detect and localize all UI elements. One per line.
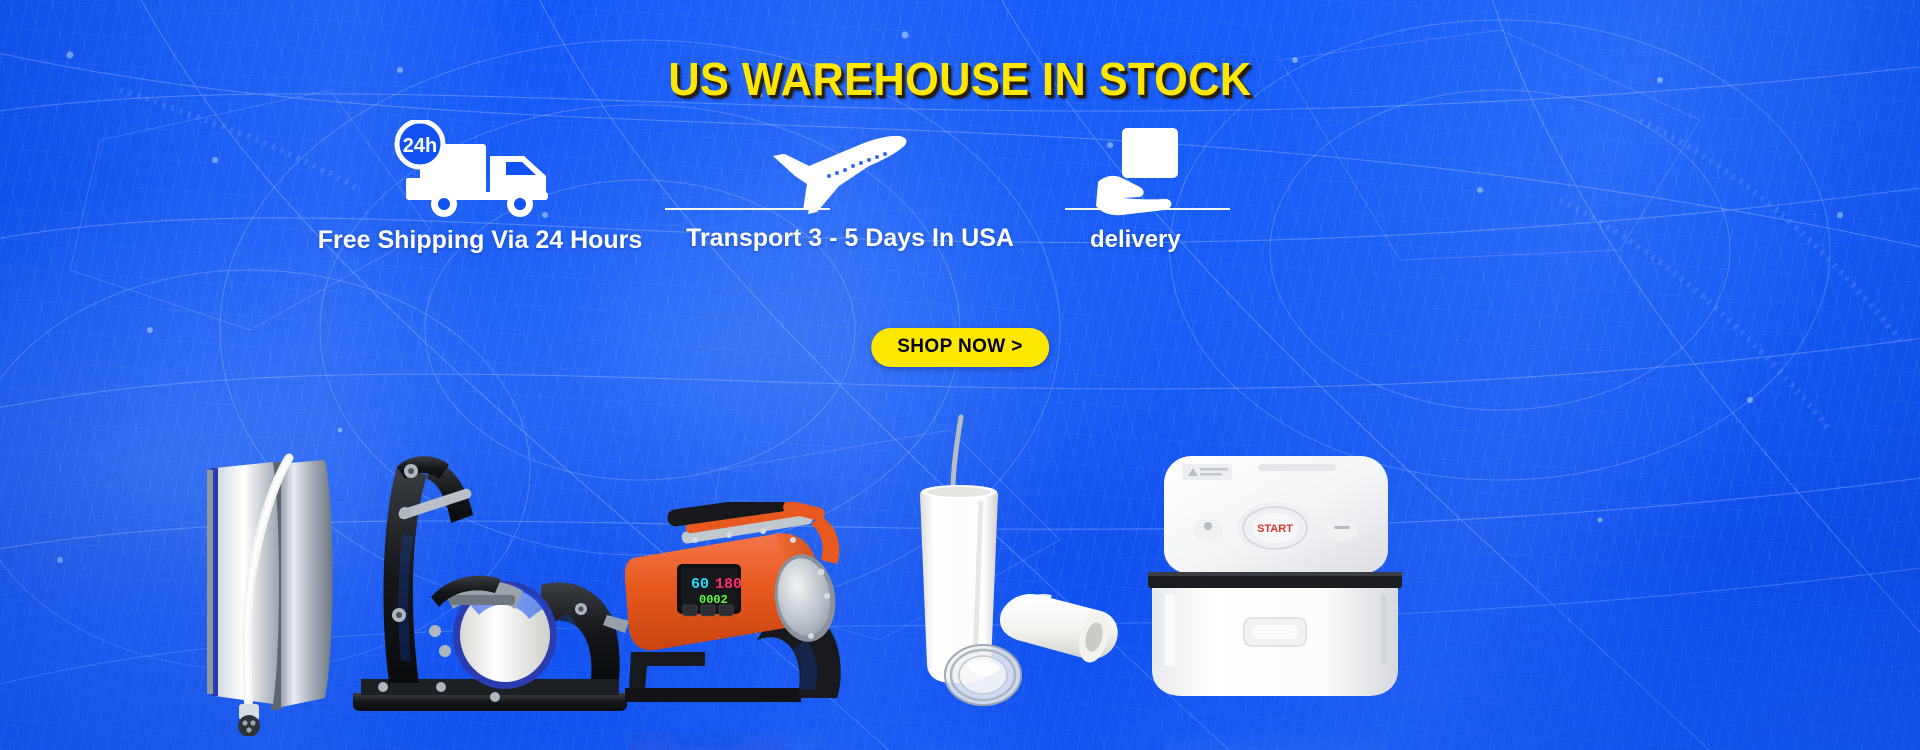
product-3d-oven: START	[1130, 440, 1420, 710]
feature-shipping: 24h Free Shipping Via 24 Hours	[300, 120, 660, 255]
delivery-truck-24h-icon: 24h	[300, 120, 660, 220]
product-heating-element	[185, 446, 345, 736]
press-display-time: 60	[691, 576, 709, 593]
truck-badge-label: 24h	[403, 135, 437, 157]
press-display-temperature: 180	[715, 718, 742, 735]
promo-banner: US WAREHOUSE IN STOCK	[0, 0, 1920, 750]
product-tumbler-press: 60 180 0002	[625, 502, 925, 712]
feature-shipping-caption: Free Shipping Via 24 Hours	[300, 226, 660, 255]
press-display-temperature: 180	[715, 576, 742, 593]
feature-transport: Transport 3 - 5 Days In USA	[650, 120, 1050, 253]
feature-delivery: delivery	[1010, 120, 1370, 254]
feature-row: 24h Free Shipping Via 24 Hours	[0, 120, 1920, 280]
page-title: US WAREHOUSE IN STOCK	[58, 52, 1863, 106]
feature-delivery-caption: delivery	[1090, 226, 1370, 254]
tumbler-press-reflection: 60 180 0002	[625, 712, 925, 750]
product-tumblers	[905, 413, 1135, 718]
oven-start-label: START	[1257, 739, 1293, 750]
product-showcase: 60 180 0002	[0, 330, 1920, 750]
airplane-icon	[650, 120, 1050, 220]
heater-reflection	[185, 736, 345, 750]
tumblers-reflection	[905, 718, 1135, 750]
mug-press-reflection	[345, 720, 635, 750]
oven-reflection: START	[1130, 710, 1420, 750]
product-mug-press	[345, 445, 635, 720]
hand-holding-box-icon	[1090, 120, 1370, 220]
feature-transport-caption: Transport 3 - 5 Days In USA	[650, 224, 1050, 253]
press-display-time: 60	[691, 718, 709, 735]
oven-start-label: START	[1257, 523, 1293, 535]
